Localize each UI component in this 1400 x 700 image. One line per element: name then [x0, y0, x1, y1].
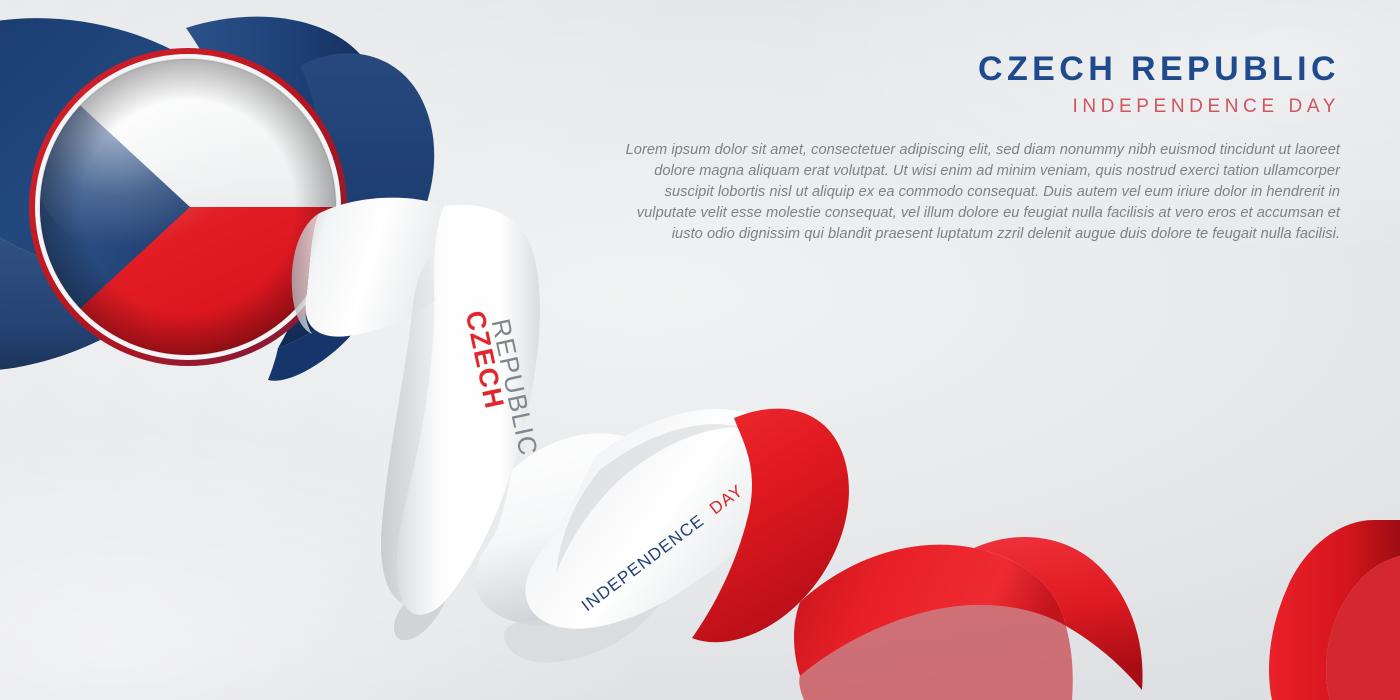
body-paragraph: Lorem ipsum dolor sit amet, consectetuer…	[616, 140, 1340, 245]
page-title: CZECH REPUBLIC	[616, 52, 1340, 88]
text-block: CZECH REPUBLIC INDEPENDENCE DAY Lorem ip…	[616, 52, 1340, 245]
page-subtitle: INDEPENDENCE DAY	[616, 97, 1340, 116]
banner-root: CZECH REPUBLIC INDEPENDENCE DAY CZECH RE…	[0, 0, 1400, 700]
